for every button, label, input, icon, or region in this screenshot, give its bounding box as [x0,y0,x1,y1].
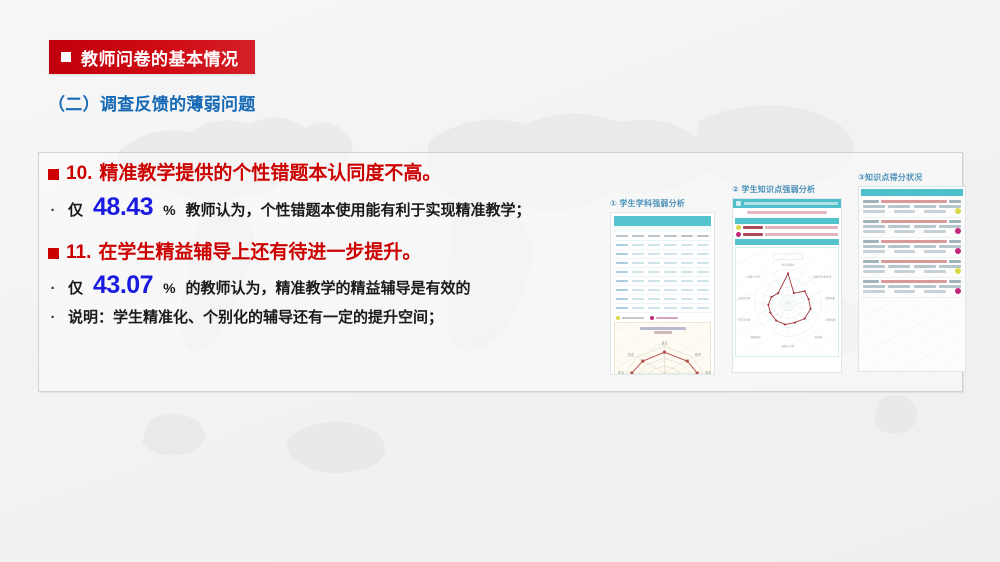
panel-3-label: ③知识点得分状况 [858,172,966,183]
status-badge [955,268,961,274]
bullet-prefix: 仅 [68,279,83,299]
svg-text:函数的基本性质: 函数的基本性质 [813,274,831,278]
heading-10: 10. 精准教学提供的个性错题本认同度不高。 [48,162,608,186]
bullet-11-1-text: 的教师认为，精准教学的精益辅导是有效的 [186,279,471,299]
screenshot-panel-group: ① 学生学科强弱分析 [600,168,970,388]
yellow-dot-icon [616,316,620,320]
svg-text:函数与方程: 函数与方程 [782,344,795,348]
score-card [861,238,963,258]
table-row [614,268,711,277]
subject-score-table [614,216,711,313]
back-icon [736,201,741,206]
svg-text:函数模型: 函数模型 [751,335,762,339]
yellow-dot-icon [736,225,741,230]
panel-knowledge-strength: ② 学生知识点强弱分析 [732,184,842,373]
radar-svg: 语文数学 英语物理 化学生物 政治历史 [615,336,714,375]
bullet-prefix: 仅 [68,201,83,221]
svg-text:政治: 政治 [618,370,624,375]
svg-text:集合的概念: 集合的概念 [782,263,795,267]
status-badge [955,288,961,294]
legend-strong-subject [616,316,644,320]
panel-2-section-bar-2 [735,239,839,245]
magenta-dot-icon [650,316,654,320]
svg-text:英语: 英语 [705,370,712,375]
bullet-11-2-text: 说明：学生精准化、个别化的辅导还有一定的提升空间； [68,308,443,328]
heading-11: 11. 在学生精益辅导上还有待进一步提升。 [48,241,608,265]
panel-3-header-bar [861,189,963,196]
svg-text:对数函数: 对数函数 [825,318,836,322]
bullet-11-1: · 仅 43.07 % 的教师认为，精准教学的精益辅导是有效的 [48,269,608,303]
subject-radar-chart: 语文数学 英语物理 化学生物 政治历史 [614,322,711,375]
magenta-dot-icon [736,232,741,237]
panel-knowledge-scores: ③知识点得分状况 [858,172,966,372]
block-spacer [48,225,608,241]
bullet-11-2: · 说明：学生精准化、个别化的辅导还有一定的提升空间； [48,308,608,328]
panel-2-note [733,208,841,217]
red-square-icon [48,248,59,259]
panel-2-screenshot: 集合的概念 函数的基本性质 指数函数 对数函数 幂函数 函数与方程 函数模型 空… [732,198,842,373]
table-row [614,277,711,286]
slide-canvas: 教师问卷的基本情况 （二）调查反馈的薄弱问题 10. 精准教学提供的个性错题本认… [0,0,1000,562]
svg-text:直线与方程: 直线与方程 [747,274,760,278]
svg-text:数学: 数学 [695,352,701,357]
panel-2-label: ② 学生知识点强弱分析 [732,184,842,195]
table-row [614,295,711,304]
score-card [861,198,963,218]
status-badge [955,228,961,234]
bullet-marker: · [48,203,58,218]
score-card [861,278,963,298]
knowledge-item-strong [733,224,841,231]
svg-text:空间几何体: 空间几何体 [737,318,750,322]
knowledge-radar-chart: 集合的概念 函数的基本性质 指数函数 对数函数 幂函数 函数与方程 函数模型 空… [735,247,839,357]
section-badge: 教师问卷的基本情况 [49,40,255,74]
heading-11-number: 11. [66,241,91,265]
panel-2-toolbar [733,199,841,208]
heading-11-text: 在学生精益辅导上还有待进一步提升。 [98,241,421,265]
panel-1-screenshot: 语文数学 英语物理 化学生物 政治历史 [610,212,715,375]
bullet-marker: · [48,281,58,296]
score-card [861,258,963,278]
status-badge [955,248,961,254]
panel-1-legend [616,316,711,320]
bullet-10-1: · 仅 48.43 % 教师认为，个性错题本使用能有利于实现精准教学； [48,191,608,225]
panel-3-screenshot [858,186,966,372]
heading-10-number: 10. [66,162,92,186]
red-square-icon [48,169,59,180]
white-square-icon [61,52,71,62]
percent-sign: % [163,279,175,298]
svg-text:指数函数: 指数函数 [825,296,836,300]
panel-subject-strength: ① 学生学科强弱分析 [610,198,715,375]
table-column-headers [614,232,711,241]
percent-sign: % [163,201,175,220]
stat-value-4843: 48.43 [93,191,153,225]
bullet-marker: · [48,310,58,325]
page-subtitle: （二）调查反馈的薄弱问题 [48,90,256,115]
table-row [614,259,711,268]
legend-weak-subject [650,316,678,320]
section-badge-label: 教师问卷的基本情况 [81,45,239,70]
svg-text:历史: 历史 [628,352,635,357]
svg-text:点线面位置: 点线面位置 [737,296,750,300]
table-row [614,304,711,313]
bullet-10-1-text: 教师认为，个性错题本使用能有利于实现精准教学； [186,201,531,221]
svg-text:语文: 语文 [661,340,668,345]
knowledge-item-weak [733,231,841,238]
bullet-column: 10. 精准教学提供的个性错题本认同度不高。 · 仅 48.43 % 教师认为，… [48,162,608,328]
heading-10-text: 精准教学提供的个性错题本认同度不高。 [99,162,441,186]
score-card [861,218,963,238]
table-row [614,286,711,295]
table-row [614,241,711,250]
svg-text:幂函数: 幂函数 [815,335,823,339]
table-row [614,250,711,259]
stat-value-4307: 43.07 [93,269,153,303]
table-header-bar [614,216,711,226]
status-badge [955,208,961,214]
radar-svg-2: 集合的概念 函数的基本性质 指数函数 对数函数 幂函数 函数与方程 函数模型 空… [736,248,840,352]
panel-1-label: ① 学生学科强弱分析 [610,198,715,209]
